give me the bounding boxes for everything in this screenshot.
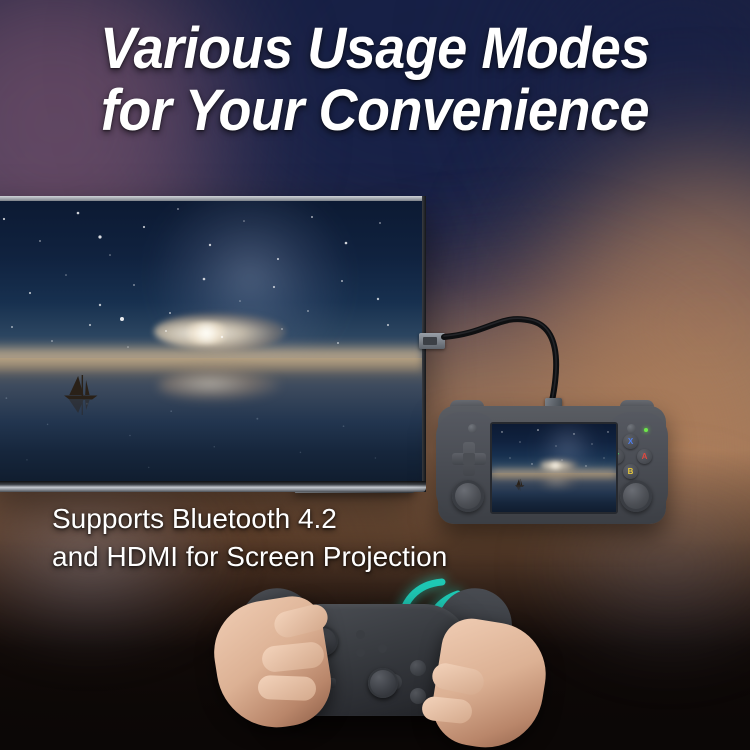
headline: Various Usage Modes for Your Convenience <box>26 18 724 142</box>
hdmi-plug-tv-end <box>419 333 445 349</box>
subtitle-line-2: and HDMI for Screen Projection <box>52 538 572 576</box>
gamepad-button-x[interactable] <box>410 660 426 676</box>
gamepad-button-home[interactable] <box>378 644 387 653</box>
handheld-button-select[interactable] <box>468 424 477 433</box>
hand-left-finger-3 <box>258 675 317 701</box>
hh-scene-sailboat <box>513 478 528 492</box>
hh-scene-stars <box>492 424 616 512</box>
subtitle: Supports Bluetooth 4.2 and HDMI for Scre… <box>52 500 572 576</box>
gamepad-button-capture[interactable] <box>356 648 365 657</box>
bluetooth-gamepad-in-hands <box>196 582 556 750</box>
gamepad-button-minus[interactable] <box>356 630 365 639</box>
tv-bezel-bottom <box>0 481 426 492</box>
tv-screen <box>0 201 422 482</box>
button-a[interactable]: A <box>637 449 652 464</box>
headline-line-1: Various Usage Modes <box>26 18 724 80</box>
scene-sailboat <box>57 372 110 417</box>
gamepad-analog-stick-right[interactable] <box>368 668 398 698</box>
dpad[interactable] <box>452 442 486 476</box>
button-x[interactable]: X <box>623 434 638 449</box>
product-feature-banner: Various Usage Modes for Your Convenience <box>0 0 750 750</box>
handheld-button-start[interactable] <box>627 424 636 433</box>
television <box>0 196 426 492</box>
hand-right-finger-2 <box>421 695 473 724</box>
button-b[interactable]: B <box>623 464 638 479</box>
analog-stick-right[interactable] <box>620 480 652 512</box>
headline-line-2: for Your Convenience <box>26 80 724 142</box>
power-led-indicator <box>644 428 648 432</box>
dpad-center <box>463 453 475 465</box>
tv-scene-night-sky-sailboat <box>0 201 422 482</box>
subtitle-line-1: Supports Bluetooth 4.2 <box>52 500 572 538</box>
handheld-scene-night-sky-sailboat <box>492 424 616 512</box>
